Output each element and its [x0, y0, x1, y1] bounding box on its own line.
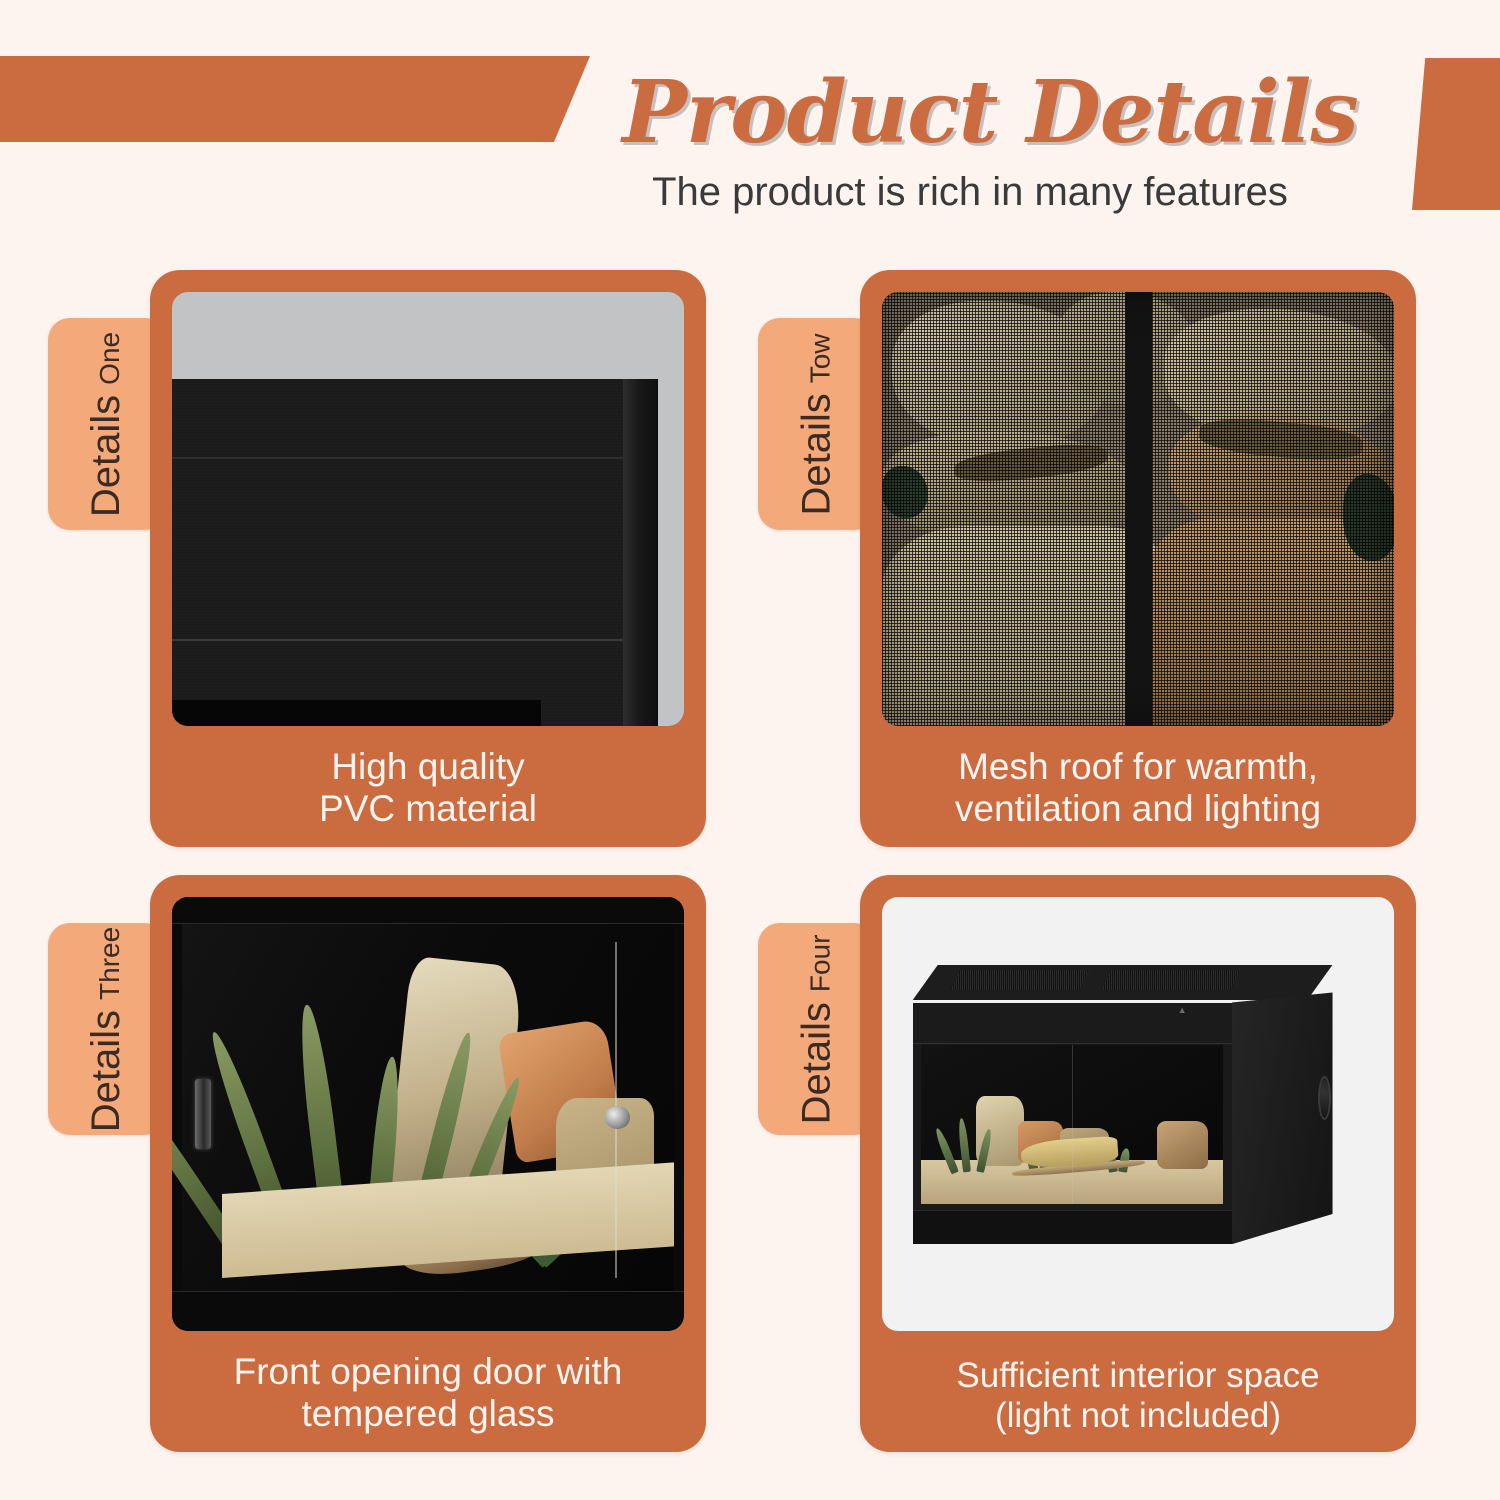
detail-card-three: Details Three [48, 875, 758, 1465]
terrarium-enclosure: ▲ [913, 992, 1333, 1244]
badge-label-sub: Four [805, 934, 837, 992]
glass-door-seam [1072, 1045, 1073, 1204]
badge-label-main: Details [85, 1009, 130, 1131]
badge-label-main: Details [85, 394, 130, 516]
badge-label-sub: Three [95, 926, 127, 999]
detail-card-two: Details Tow [758, 270, 1468, 860]
card-caption-three: Front opening door with tempered glass [150, 1351, 706, 1436]
badge-label-sub: Tow [805, 333, 837, 383]
badge-details-three: Details Three [48, 923, 166, 1135]
card-caption-one: High quality PVC material [150, 746, 706, 831]
mesh-vent-left [951, 970, 1090, 990]
header-left-accent-bar [0, 56, 590, 142]
card-caption-two: Mesh roof for warmth, ventilation and li… [860, 746, 1416, 831]
pvc-panel-edge [623, 379, 659, 726]
details-card-grid: Details One High quality PVC material De… [0, 255, 1500, 1495]
terrarium-side-panel [1232, 992, 1333, 1244]
badge-label-main: Details [795, 1002, 840, 1124]
vent-dial-icon [1318, 1076, 1331, 1120]
pvc-panel-foot [172, 700, 541, 726]
badge-details-one: Details One [48, 318, 166, 530]
terrarium-glass-window [921, 1045, 1223, 1204]
door-handle [195, 1079, 211, 1148]
tempered-glass-door [182, 919, 674, 1301]
pvc-panel-closeup-photo [172, 292, 684, 726]
terrarium-base-rail [913, 1210, 1232, 1244]
card-body-four: ▲ [860, 875, 1416, 1452]
rock-right [1157, 1121, 1208, 1169]
page-header: Product Details The product is rich in m… [0, 0, 1500, 240]
badge-label-main: Details [795, 393, 840, 515]
frame-bottom-rail [172, 1291, 684, 1331]
door-lock-icon [605, 1106, 630, 1129]
sand-substrate [222, 1162, 674, 1278]
full-terrarium-photo: ▲ [882, 897, 1394, 1331]
mesh-roof-photo [882, 292, 1394, 726]
badge-label-sub: One [95, 331, 127, 384]
pvc-panel-seam [172, 457, 623, 459]
front-door-glass-photo [172, 897, 684, 1331]
pvc-panel-lower-seam [172, 639, 623, 641]
card-body-three: Front opening door with tempered glass [150, 875, 706, 1452]
page-title: Product Details [560, 62, 1420, 163]
pvc-panel-grain [172, 379, 623, 726]
detail-card-one: Details One High quality PVC material [48, 270, 758, 860]
mesh-vent-right [1102, 970, 1241, 990]
badge-details-four: Details Four [758, 923, 876, 1135]
card-caption-four: Sufficient interior space (light not inc… [860, 1356, 1416, 1437]
detail-card-four: Details Four ▲ [758, 875, 1468, 1465]
frame-top-rail [172, 897, 684, 924]
card-body-one: High quality PVC material [150, 270, 706, 847]
page-subtitle: The product is rich in many features [520, 170, 1420, 215]
card-body-two: Mesh roof for warmth, ventilation and li… [860, 270, 1416, 847]
terrarium-header-bar: ▲ [913, 1003, 1232, 1044]
badge-details-two: Details Tow [758, 318, 876, 530]
brand-logo: ▲ [1178, 1005, 1187, 1015]
photo-vignette [882, 292, 1394, 726]
header-right-accent-bar [1412, 58, 1500, 210]
